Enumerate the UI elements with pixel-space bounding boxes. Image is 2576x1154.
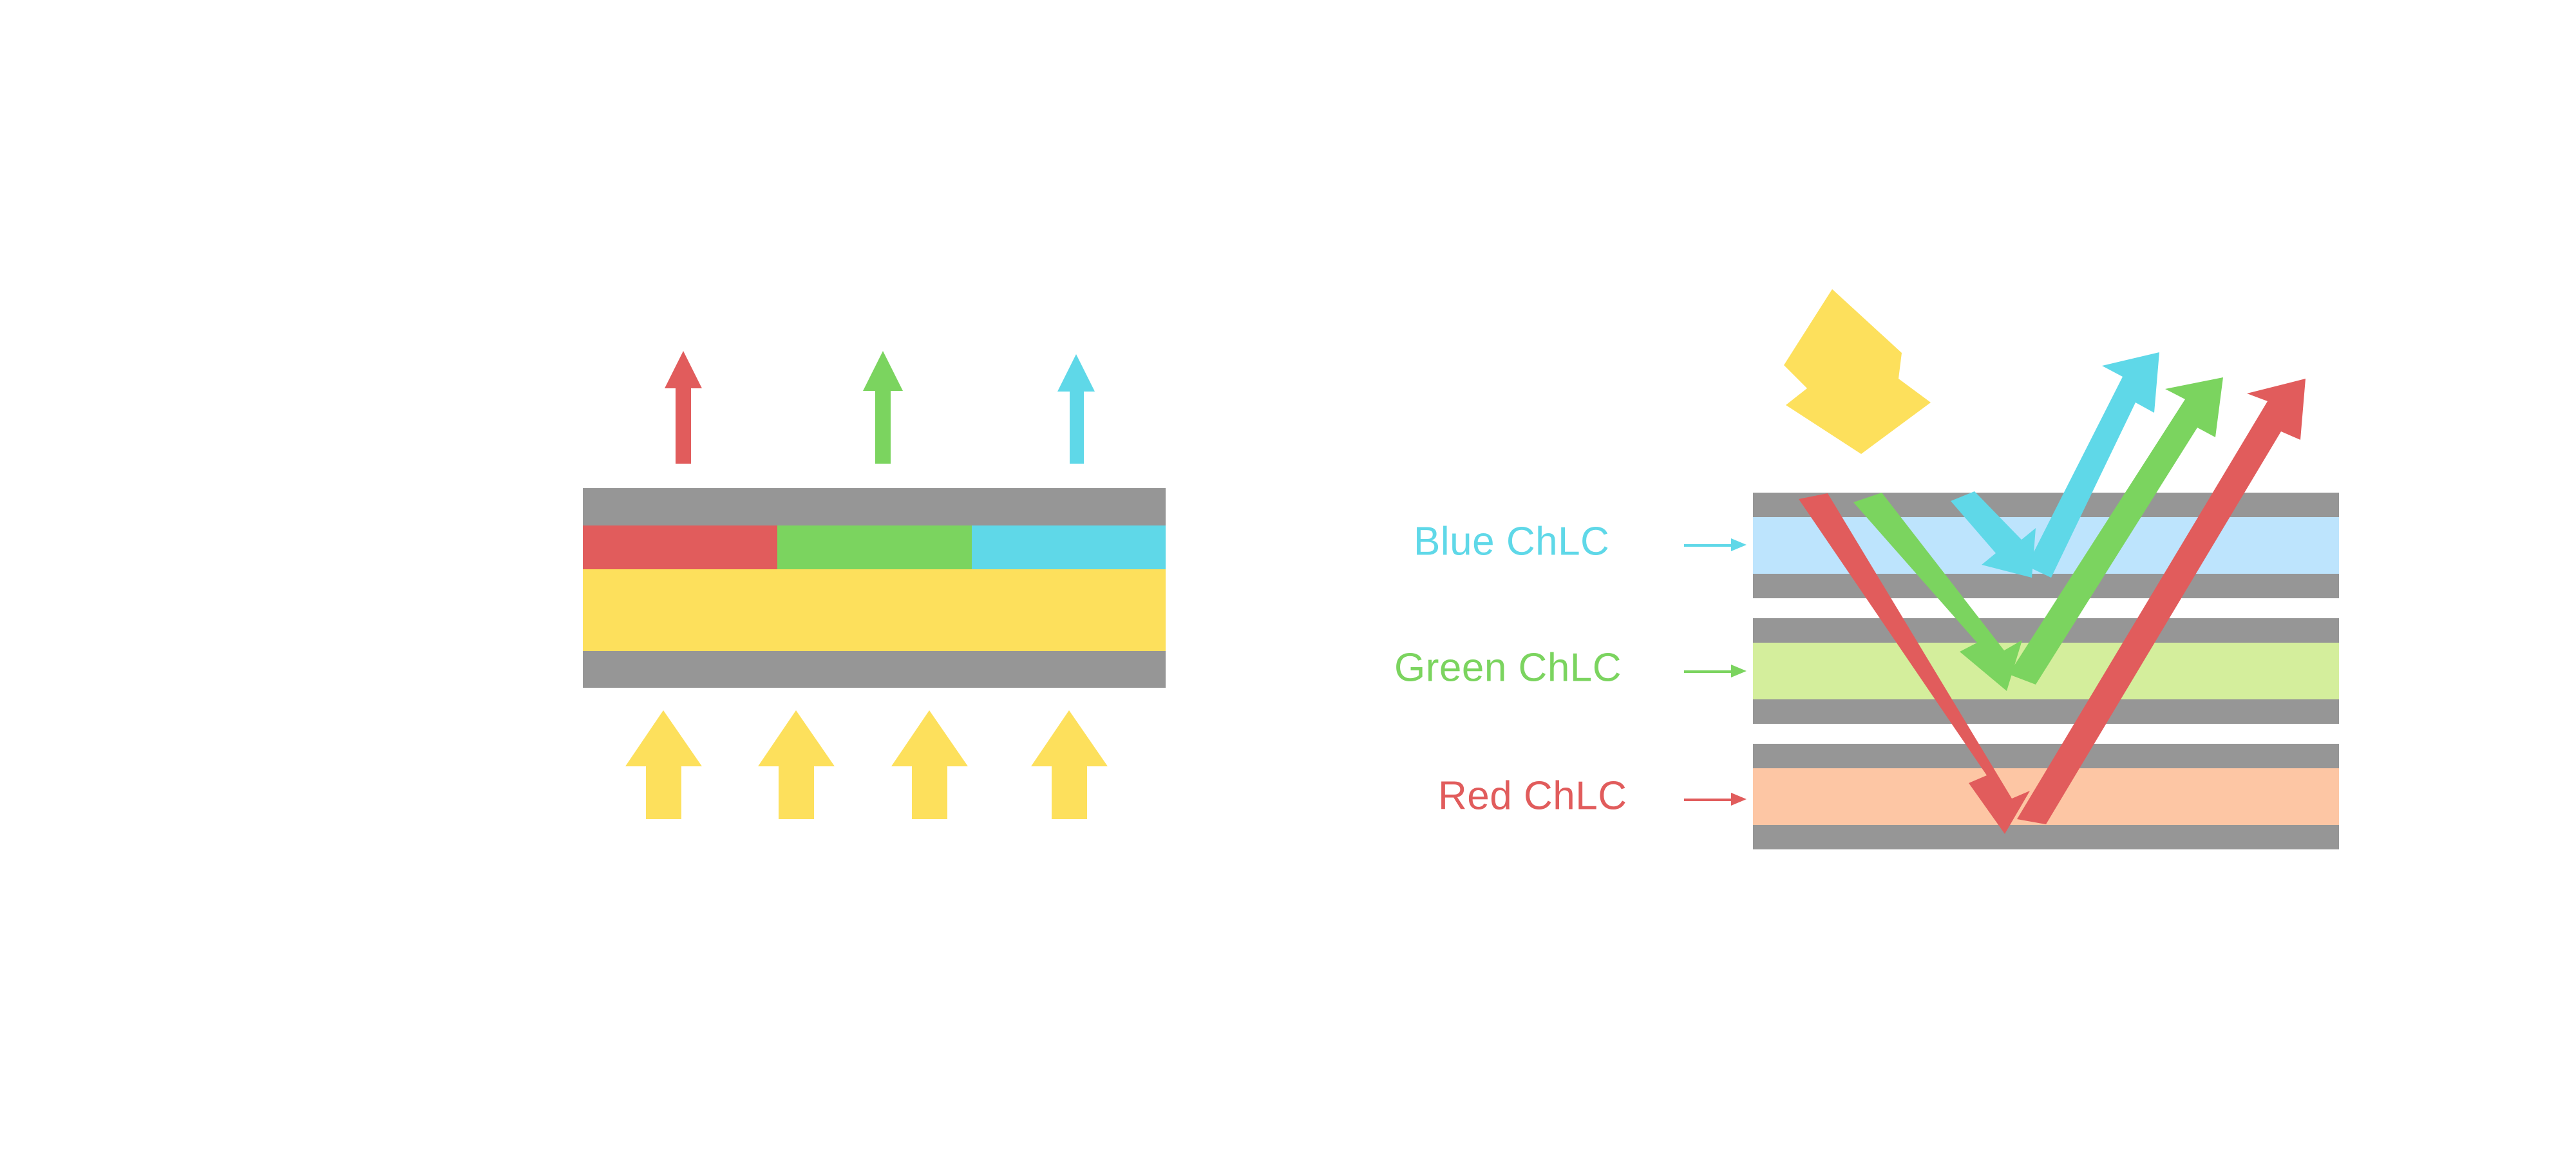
blue-chlc-label-text: Blue ChLC — [1414, 519, 1609, 563]
green-filter-segment — [777, 525, 972, 569]
blue-filter-segment — [972, 525, 1166, 569]
left-bottom-electrode — [583, 651, 1166, 688]
red-filter-segment — [583, 525, 777, 569]
red-cell-bottom-electrode — [1753, 825, 2339, 849]
green-chlc-label-text: Green ChLC — [1394, 645, 1622, 690]
left-top-electrode — [583, 488, 1166, 525]
blue-cell-top-electrode — [1753, 493, 2339, 517]
red-chlc-label-text: Red ChLC — [1438, 773, 1627, 818]
red-cell-top-electrode — [1753, 744, 2339, 768]
left-stack — [583, 488, 1166, 688]
yellow-backlight-layer — [583, 569, 1166, 651]
blue-cell-bottom-electrode — [1753, 574, 2339, 598]
figure-root: Blue ChLC Green ChLC Red ChLC — [0, 0, 2576, 1154]
diagram-canvas: Blue ChLC Green ChLC Red ChLC — [0, 0, 2576, 1154]
green-cell-bottom-electrode — [1753, 699, 2339, 724]
